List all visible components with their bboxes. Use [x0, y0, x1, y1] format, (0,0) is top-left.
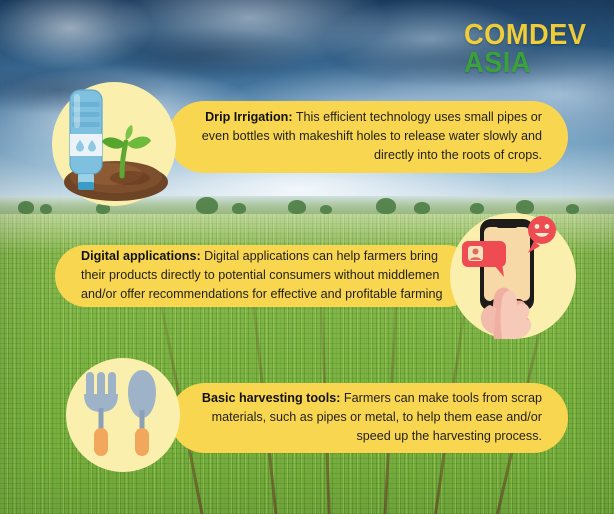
garden-fork-and-trowel-icon — [66, 358, 180, 472]
logo-line-asia: ASIA — [464, 50, 586, 78]
infographic-poster: COMDEV ASIA — [0, 0, 614, 514]
badge-drip-irrigation — [52, 82, 176, 206]
banner-basic-harvesting-tools: Basic harvesting tools: Farmers can make… — [170, 383, 568, 453]
comdev-asia-logo: COMDEV ASIA — [464, 22, 594, 78]
lead-basic-harvesting-tools: Basic harvesting tools: — [202, 391, 341, 405]
water-bottle-sprout-icon — [52, 82, 176, 206]
lead-drip-irrigation: Drip Irrigation: — [205, 110, 292, 124]
badge-digital-applications — [450, 213, 576, 339]
lead-digital-applications: Digital applications: — [81, 249, 201, 263]
hand-holding-smartphone-icon — [450, 213, 576, 339]
logo-line-comdev: COMDEV — [464, 22, 586, 50]
badge-basic-harvesting-tools — [66, 358, 180, 472]
banner-drip-irrigation: Drip Irrigation: This efficient technolo… — [168, 101, 568, 173]
banner-digital-applications: Digital applications: Digital applicatio… — [55, 245, 477, 307]
